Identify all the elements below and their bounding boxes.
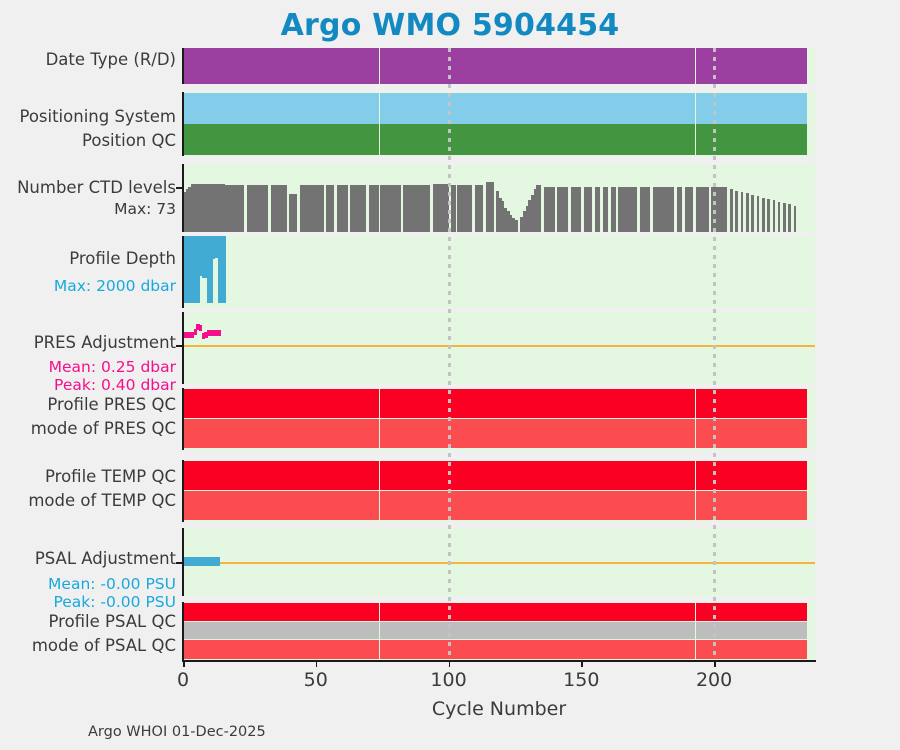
segment-bar xyxy=(419,640,427,659)
segment-bar xyxy=(419,48,427,84)
segment-bar xyxy=(361,622,369,638)
segment-bar xyxy=(494,93,502,124)
segment-bar xyxy=(587,48,595,84)
segment-bar xyxy=(398,640,409,659)
segment-bar xyxy=(244,389,273,418)
segment-bar xyxy=(688,48,696,84)
segment-bar xyxy=(502,93,515,124)
segment-bar xyxy=(300,461,313,490)
segment-bar xyxy=(626,93,634,124)
segment-bar xyxy=(634,622,642,638)
ctd-level-bar xyxy=(613,187,616,232)
segment-bar xyxy=(626,491,634,520)
segment-bar xyxy=(696,640,704,659)
segment-bar xyxy=(634,419,642,448)
ctd-level-bar xyxy=(345,185,348,232)
segment-bar xyxy=(244,419,273,448)
segment-bar xyxy=(300,389,313,418)
segment-bar xyxy=(680,124,688,155)
segment-bar xyxy=(703,461,711,490)
segment-bar xyxy=(467,640,480,659)
segment-bar xyxy=(539,622,550,638)
label-pres-mean: Mean: 0.25 dbar xyxy=(49,358,176,377)
segment-bar xyxy=(658,48,666,84)
segment-bar xyxy=(486,491,494,520)
segment-bar xyxy=(244,603,273,621)
segment-bar xyxy=(549,93,557,124)
label-position-qc: Position QC xyxy=(82,131,176,150)
segment-bar xyxy=(486,124,494,155)
segment-bar xyxy=(273,622,292,638)
label-profile-psal-qc: Profile PSAL QC xyxy=(48,612,176,631)
segment-bar xyxy=(300,48,313,84)
segment-bar xyxy=(486,389,494,418)
ctd-level-bar xyxy=(398,185,401,232)
ctd-level-bar xyxy=(725,187,728,232)
segment-bar xyxy=(502,622,515,638)
segment-bar xyxy=(688,491,696,520)
segment-bar xyxy=(419,491,427,520)
segment-bar xyxy=(696,389,704,418)
segment-bar xyxy=(579,622,587,638)
segment-bar xyxy=(563,124,574,155)
segment-bar xyxy=(618,640,626,659)
segment-bar xyxy=(244,461,273,490)
segment-bar xyxy=(318,124,353,155)
ctd-level-bar xyxy=(767,199,770,232)
segment-bar xyxy=(419,124,427,155)
segment-bar xyxy=(738,622,746,638)
gridline-cycle-200 xyxy=(713,48,716,660)
segment-bar xyxy=(292,461,300,490)
segment-bar xyxy=(595,603,603,621)
segment-bar xyxy=(563,389,574,418)
segment-bar xyxy=(618,603,626,621)
segment-bar xyxy=(786,461,794,490)
segment-bar xyxy=(799,48,807,84)
segment-bar xyxy=(658,491,666,520)
segment-bar xyxy=(385,124,393,155)
psal-adjustment-trace xyxy=(183,557,220,566)
panel-psal-adjustment xyxy=(183,528,815,596)
segment-bar xyxy=(634,640,642,659)
segment-bar xyxy=(579,48,587,84)
segment-bar xyxy=(486,461,494,490)
segment-bar xyxy=(767,48,775,84)
segment-bar xyxy=(603,461,614,490)
segment-bar xyxy=(318,419,353,448)
axis-spine-psal-qc xyxy=(182,602,184,660)
segment-bar xyxy=(799,640,807,659)
segment-bar xyxy=(467,93,480,124)
ctd-level-bar xyxy=(741,192,744,232)
x-axis-title: Cycle Number xyxy=(182,698,816,720)
segment-bar xyxy=(642,603,653,621)
segment-bar xyxy=(767,124,775,155)
ctd-level-bar xyxy=(539,185,542,232)
segment-bar xyxy=(398,491,409,520)
segment-bar xyxy=(549,491,557,520)
segment-bar xyxy=(603,389,614,418)
segment-bar xyxy=(680,389,688,418)
segment-bar xyxy=(318,461,353,490)
segment-bar xyxy=(658,461,666,490)
segment-bar xyxy=(398,603,409,621)
segment-bar xyxy=(666,491,674,520)
x-axis-tick-label: 100 xyxy=(430,669,466,691)
ctd-level-bar xyxy=(605,187,608,232)
x-axis-tick-label: 0 xyxy=(177,669,189,691)
segment-bar xyxy=(531,603,539,621)
segment-bar xyxy=(626,622,634,638)
axis-spine-depth xyxy=(182,236,184,308)
segment-bar xyxy=(494,124,502,155)
ctd-level-bar xyxy=(332,185,335,232)
segment-bar xyxy=(353,603,361,621)
segment-bar xyxy=(539,419,550,448)
segment-bar xyxy=(618,461,626,490)
segment-bar xyxy=(626,419,634,448)
segment-bar xyxy=(385,622,393,638)
segment-bar xyxy=(183,461,225,490)
segment-bar xyxy=(361,124,369,155)
segment-bar xyxy=(799,491,807,520)
segment-bar xyxy=(244,93,273,124)
ctd-level-bar xyxy=(241,185,244,232)
segment-bar xyxy=(703,48,711,84)
ctd-level-bar xyxy=(579,187,582,232)
segment-bar xyxy=(626,48,634,84)
segment-bar xyxy=(273,491,292,520)
segment-bar xyxy=(642,622,653,638)
segment-bar xyxy=(786,389,794,418)
segment-bar xyxy=(318,622,353,638)
ytick-ctd-max xyxy=(176,187,183,189)
panel-psal-qc xyxy=(183,602,815,660)
segment-bar xyxy=(563,491,574,520)
segment-bar xyxy=(502,48,515,84)
segment-bar xyxy=(292,93,300,124)
segment-bar xyxy=(467,622,480,638)
segment-bar xyxy=(786,603,794,621)
axis-spine-pres-qc xyxy=(182,388,184,450)
segment-bar xyxy=(799,93,807,124)
segment-bar xyxy=(459,389,467,418)
segment-bar xyxy=(183,640,225,659)
segment-bar xyxy=(502,491,515,520)
segment-bar xyxy=(738,389,746,418)
label-profile-pres-qc: Profile PRES QC xyxy=(47,395,176,414)
segment-bar xyxy=(642,124,653,155)
segment-bar xyxy=(703,124,711,155)
segment-bar xyxy=(494,640,502,659)
pres-adjustment-trace xyxy=(218,330,221,336)
segment-bar xyxy=(244,124,273,155)
segment-bar xyxy=(634,491,642,520)
x-axis-tick xyxy=(183,660,185,667)
segment-bar xyxy=(419,461,427,490)
segment-bar xyxy=(738,491,746,520)
segment-bar xyxy=(531,93,539,124)
segment-bar xyxy=(353,124,361,155)
segment-bar xyxy=(595,640,603,659)
segment-bar xyxy=(799,461,807,490)
segment-bar xyxy=(494,48,502,84)
segment-bar xyxy=(786,491,794,520)
segment-bar xyxy=(549,419,557,448)
segment-bar xyxy=(486,622,494,638)
label-profile-depth: Profile Depth xyxy=(69,249,176,268)
segment-bar xyxy=(595,419,603,448)
segment-bar xyxy=(579,640,587,659)
segment-bar xyxy=(183,93,225,124)
segment-bar xyxy=(292,419,300,448)
segment-bar xyxy=(318,48,353,84)
segment-bar xyxy=(666,93,674,124)
segment-bar xyxy=(587,491,595,520)
segment-bar xyxy=(799,389,807,418)
segment-bar xyxy=(799,419,807,448)
ctd-level-bar xyxy=(427,185,430,232)
segment-bar xyxy=(467,124,480,155)
segment-bar xyxy=(486,419,494,448)
segment-bar xyxy=(300,622,313,638)
ctd-level-bar xyxy=(757,196,760,232)
axis-spine-date-type xyxy=(182,48,184,84)
segment-bar xyxy=(225,124,244,155)
segment-bar xyxy=(579,461,587,490)
segment-bar xyxy=(642,419,653,448)
segment-bar xyxy=(703,389,711,418)
segment-bar xyxy=(398,461,409,490)
profile-depth-bar xyxy=(223,236,226,303)
segment-bar xyxy=(666,622,674,638)
segment-bar xyxy=(603,419,614,448)
segment-bar xyxy=(658,419,666,448)
segment-bar xyxy=(459,48,467,84)
segment-bar xyxy=(603,603,614,621)
segment-bar xyxy=(419,603,427,621)
label-mode-of-temp-qc: mode of TEMP QC xyxy=(28,491,176,510)
ctd-level-bar xyxy=(680,187,683,232)
segment-bar xyxy=(459,461,467,490)
ctd-level-bar xyxy=(470,185,473,232)
segment-bar xyxy=(244,622,273,638)
segment-bar xyxy=(595,622,603,638)
segment-bar xyxy=(486,93,494,124)
segment-bar xyxy=(300,93,313,124)
segment-bar xyxy=(225,603,244,621)
segment-bar xyxy=(786,640,794,659)
segment-bar xyxy=(680,461,688,490)
segment-bar xyxy=(467,48,480,84)
segment-bar xyxy=(539,640,550,659)
segment-bar xyxy=(300,640,313,659)
ctd-level-bar xyxy=(491,182,494,232)
segment-bar xyxy=(658,93,666,124)
segment-bar xyxy=(618,48,626,84)
segment-bar xyxy=(225,640,244,659)
segment-bar xyxy=(688,93,696,124)
ctd-level-bar xyxy=(783,203,786,232)
segment-bar xyxy=(738,640,746,659)
segment-bar xyxy=(353,419,361,448)
segment-bar xyxy=(459,93,467,124)
ctd-level-bar xyxy=(730,189,733,232)
label-psal-peak: Peak: -0.00 PSU xyxy=(53,593,176,612)
panel-positioning-position-qc xyxy=(183,92,815,156)
segment-bar xyxy=(767,461,775,490)
segment-bar xyxy=(618,93,626,124)
segment-bar xyxy=(225,622,244,638)
segment-bar xyxy=(292,124,300,155)
segment-bar xyxy=(419,622,427,638)
pres-adjustment-trace xyxy=(199,325,202,331)
segment-bar xyxy=(361,93,369,124)
segment-bar xyxy=(459,603,467,621)
segment-bar xyxy=(183,48,225,84)
segment-bar xyxy=(531,48,539,84)
segment-bar xyxy=(642,48,653,84)
segment-bar xyxy=(658,603,666,621)
segment-bar xyxy=(531,640,539,659)
x-axis-tick-label: 150 xyxy=(563,669,599,691)
segment-bar xyxy=(385,389,393,418)
segment-bar xyxy=(634,48,642,84)
footer-credit: Argo WHOI 01-Dec-2025 xyxy=(88,724,266,740)
segment-bar xyxy=(502,640,515,659)
segment-bar xyxy=(634,93,642,124)
segment-bar xyxy=(225,389,244,418)
segment-bar xyxy=(353,491,361,520)
segment-bar xyxy=(244,491,273,520)
segment-bar xyxy=(587,93,595,124)
segment-bar xyxy=(273,640,292,659)
segment-bar xyxy=(459,491,467,520)
segment-bar xyxy=(579,93,587,124)
segment-bar xyxy=(361,603,369,621)
segment-bar xyxy=(385,603,393,621)
segment-bar xyxy=(799,603,807,621)
segment-bar xyxy=(300,419,313,448)
segment-bar xyxy=(183,124,225,155)
segment-bar xyxy=(385,48,393,84)
segment-bar xyxy=(563,640,574,659)
ctd-level-bar xyxy=(565,187,568,232)
segment-bar xyxy=(688,603,696,621)
segment-bar xyxy=(680,640,688,659)
segment-bar xyxy=(467,461,480,490)
segment-bar xyxy=(225,48,244,84)
x-axis-tick xyxy=(449,660,451,667)
segment-bar xyxy=(738,419,746,448)
segment-bar xyxy=(696,48,704,84)
segment-bar xyxy=(385,491,393,520)
segment-bar xyxy=(353,93,361,124)
segment-bar xyxy=(595,48,603,84)
segment-bar xyxy=(658,640,666,659)
segment-bar xyxy=(703,640,711,659)
segment-bar xyxy=(292,389,300,418)
segment-bar xyxy=(634,389,642,418)
gridline-cycle-100 xyxy=(448,48,451,660)
x-axis-tick-label: 200 xyxy=(696,669,732,691)
segment-bar xyxy=(658,389,666,418)
segment-bar xyxy=(385,461,393,490)
segment-bar xyxy=(549,640,557,659)
segment-bar xyxy=(738,603,746,621)
segment-bar xyxy=(603,622,614,638)
segment-bar xyxy=(786,622,794,638)
segment-bar xyxy=(385,640,393,659)
segment-bar xyxy=(292,48,300,84)
segment-bar xyxy=(587,461,595,490)
segment-bar xyxy=(696,93,704,124)
x-axis-tick xyxy=(714,660,716,667)
segment-bar xyxy=(767,419,775,448)
segment-bar xyxy=(618,389,626,418)
segment-bar xyxy=(486,48,494,84)
segment-bar xyxy=(419,389,427,418)
segment-bar xyxy=(563,622,574,638)
segment-bar xyxy=(767,389,775,418)
ctd-level-bar xyxy=(746,193,749,232)
segment-bar xyxy=(494,389,502,418)
segment-bar xyxy=(738,48,746,84)
segment-bar xyxy=(183,389,225,418)
segment-bar xyxy=(587,124,595,155)
segment-bar xyxy=(626,603,634,621)
label-mode-of-psal-qc: mode of PSAL QC xyxy=(32,636,176,655)
segment-bar xyxy=(680,603,688,621)
panel-number-ctd-levels xyxy=(183,164,815,232)
ctd-level-bar xyxy=(295,194,298,232)
segment-bar xyxy=(563,93,574,124)
ctd-level-bar xyxy=(589,187,592,232)
segment-bar xyxy=(738,461,746,490)
axis-spine-ctd xyxy=(182,164,184,232)
segment-bar xyxy=(767,491,775,520)
label-number-ctd-levels-max: Max: 73 xyxy=(114,200,176,219)
segment-bar xyxy=(273,419,292,448)
segment-bar xyxy=(531,491,539,520)
axis-spine-temp-qc xyxy=(182,460,184,522)
segment-bar xyxy=(292,622,300,638)
segment-bar xyxy=(486,603,494,621)
ctd-level-bar xyxy=(706,187,709,232)
ctd-level-bar xyxy=(515,220,518,232)
segment-bar xyxy=(361,461,369,490)
segment-bar xyxy=(531,622,539,638)
segment-bar xyxy=(634,124,642,155)
segment-bar xyxy=(353,461,361,490)
segment-bar xyxy=(244,640,273,659)
segment-bar xyxy=(531,389,539,418)
segment-bar xyxy=(680,93,688,124)
segment-bar xyxy=(467,419,480,448)
segment-bar xyxy=(603,640,614,659)
ytick-psal-zero xyxy=(176,562,183,564)
segment-bar xyxy=(273,124,292,155)
segment-bar xyxy=(703,622,711,638)
segment-bar xyxy=(587,640,595,659)
segment-bar xyxy=(549,461,557,490)
panel-profile-depth xyxy=(183,236,815,308)
page-title: Argo WMO 5904454 xyxy=(0,8,900,43)
segment-bar xyxy=(696,124,704,155)
label-positioning-system: Positioning System xyxy=(19,107,176,126)
segment-bar xyxy=(467,603,480,621)
